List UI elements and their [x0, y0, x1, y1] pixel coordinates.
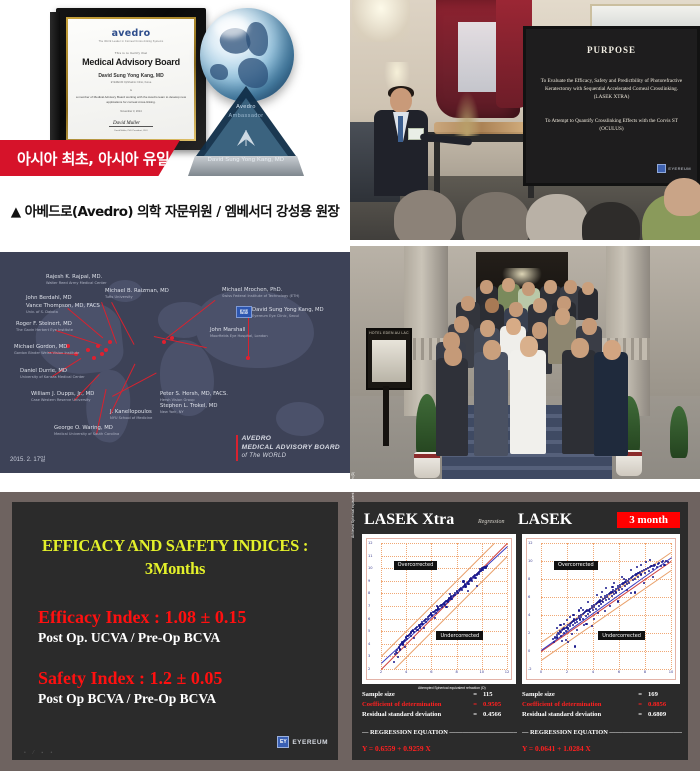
- data-point: [479, 568, 481, 570]
- gridline-horizontal: [541, 669, 671, 670]
- charts-header: LASEK Xtra Regression LASEK 3 month: [352, 508, 688, 532]
- data-point: [605, 587, 607, 589]
- data-point: [572, 614, 574, 616]
- regression-header-left: — REGRESSION EQUATION ————————————: [362, 728, 517, 738]
- data-point: [474, 577, 476, 579]
- eyereum-logo: EY EYEREUM: [277, 736, 328, 748]
- x-tick-label: 4: [592, 670, 594, 674]
- certificate: avedro The World Leader in Corneal Cross…: [68, 19, 194, 139]
- data-point: [602, 601, 604, 603]
- certificate-brand: avedro: [76, 28, 186, 39]
- efficacy-safety-slide: EFFICACY AND SAFETY INDICES : 3Months Ef…: [12, 502, 338, 760]
- data-point: [582, 609, 584, 611]
- regression-header-right: — REGRESSION EQUATION ————————————: [522, 728, 682, 738]
- data-point: [462, 580, 464, 582]
- safety-index-value: Safety Index : 1.2 ± 0.05: [38, 668, 222, 689]
- data-point: [486, 565, 488, 567]
- regression-equation-right: Y = 0.0641 + 1.0284 X: [522, 743, 682, 754]
- timepoint-badge: 3 month: [617, 512, 680, 528]
- page-root: avedro The World Leader in Corneal Cross…: [0, 0, 700, 771]
- data-point: [604, 610, 606, 612]
- regression-equation-left: Y = 0.6559 + 0.9259 X: [362, 743, 517, 754]
- data-point: [644, 572, 646, 574]
- data-point: [643, 582, 645, 584]
- audience-head-6: [664, 178, 700, 216]
- dried-plant: [454, 92, 480, 136]
- data-point: [640, 564, 642, 566]
- data-point: [399, 648, 401, 650]
- eyereum-mark-icon: EY: [277, 736, 289, 748]
- row-results-slides: EFFICACY AND SAFETY INDICES : 3Months Ef…: [0, 485, 700, 771]
- data-point: [585, 623, 587, 625]
- safety-index-formula: Post Op BCVA / Pre-Op BCVA: [38, 691, 216, 707]
- award-caption: ▲ 아베드로(Avedro) 의학 자문위원 / 엠베서더 강성용 원장: [0, 200, 350, 220]
- data-point: [569, 616, 571, 618]
- eyereum-mark-icon: [657, 164, 666, 173]
- world-map-panel: Rajesh K. Rajpal, MD.Walter Reed Army Me…: [0, 240, 350, 485]
- chart-lasek: 0246810-2024681012OvercorrectedUndercorr…: [522, 534, 680, 684]
- data-point: [553, 641, 555, 643]
- x-tick-label: 6: [618, 670, 620, 674]
- data-point: [583, 624, 585, 626]
- data-point: [559, 624, 561, 626]
- group-photo-panel: HOTEL EDEN AU LAC: [350, 240, 700, 485]
- data-point: [600, 596, 602, 598]
- chart-regression-label: Regression: [478, 519, 504, 525]
- data-point: [435, 612, 437, 614]
- annotation-overcorrected: Overcorrected: [554, 561, 598, 570]
- eyereum-logo-text: EYEREUM: [292, 739, 328, 746]
- data-point: [640, 573, 642, 575]
- group-photo: HOTEL EDEN AU LAC: [350, 246, 700, 479]
- slide-logo: EYEREUM: [657, 164, 691, 173]
- tolerance-line: [394, 556, 508, 670]
- x-tick-label: 2: [380, 670, 382, 674]
- data-point: [476, 585, 478, 587]
- projection-screen: PURPOSE To Evaluate the Efficacy, Safety…: [523, 26, 700, 186]
- certificate-body: a member of Medical Advisory Board worki…: [76, 95, 186, 104]
- x-tick-label: 2: [566, 670, 568, 674]
- data-point: [626, 589, 628, 591]
- data-point: [561, 640, 563, 642]
- data-point: [578, 609, 580, 611]
- data-point: [471, 580, 473, 582]
- chart-lasek-xtra: 2468101223456789101112OvercorrectedUnder…: [362, 534, 516, 684]
- world-map: Rajesh K. Rajpal, MD.Walter Reed Army Me…: [0, 252, 350, 473]
- data-point: [587, 601, 589, 603]
- data-point: [397, 656, 399, 658]
- certificate-is-line: is: [76, 89, 186, 92]
- gridline-horizontal: [541, 543, 671, 544]
- crystal-trophy: Avedro Ambassador David Sung Yong Kang, …: [182, 8, 310, 178]
- x-tick-label: 8: [644, 670, 646, 674]
- data-point: [464, 585, 466, 587]
- certificate-date: November 3, 2014: [76, 110, 186, 113]
- certificate-signer: David Muller, PhD President, CEO: [76, 130, 186, 132]
- data-point: [576, 629, 578, 631]
- data-point: [615, 591, 617, 593]
- data-point: [601, 591, 603, 593]
- data-point: [617, 600, 619, 602]
- data-point: [461, 589, 463, 591]
- data-point: [598, 605, 600, 607]
- avedro-emblem-icon: [234, 126, 258, 150]
- data-point: [621, 588, 623, 590]
- data-point: [574, 645, 576, 647]
- data-point: [600, 603, 602, 605]
- certificate-recipient: David Sung Yong Kang, MD: [76, 73, 186, 79]
- certificate-signature-line: David Muller: [109, 121, 153, 129]
- data-point: [597, 612, 599, 614]
- gridline-horizontal: [381, 556, 507, 557]
- data-point: [445, 606, 447, 608]
- stats-left: Sample size=115 Coefficient of determina…: [362, 690, 517, 754]
- stats-right: Sample size=169 Coefficient of determina…: [522, 690, 682, 754]
- presentation-photo: PURPOSE To Evaluate the Efficacy, Safety…: [350, 0, 700, 240]
- map-board-signature: AVEDRO MEDICAL ADVISORY BOARD of The WOR…: [236, 435, 340, 461]
- x-tick-label: 10: [669, 670, 674, 674]
- data-point: [572, 624, 574, 626]
- data-point: [563, 632, 565, 634]
- annotation-undercorrected: Undercorrected: [598, 631, 645, 640]
- data-point: [413, 631, 415, 633]
- slide-title: PURPOSE: [532, 45, 691, 55]
- trophy-line3: David Sung Yong Kang, MD: [182, 157, 310, 163]
- y-axis-label: Achieved Spherical equivalent refraction…: [351, 472, 355, 538]
- data-point: [591, 625, 593, 627]
- gridline-vertical: [507, 543, 508, 669]
- data-point: [630, 569, 632, 571]
- data-point: [609, 605, 611, 607]
- buffet-items: [434, 122, 530, 134]
- gridline-horizontal: [381, 656, 507, 657]
- slide-controls[interactable]: • ⁄ ▪ •: [24, 750, 55, 756]
- data-point: [482, 569, 484, 571]
- gridline-horizontal: [541, 579, 671, 580]
- gridline-horizontal: [381, 669, 507, 670]
- data-point: [419, 626, 421, 628]
- row-award-and-presentation: avedro The World Leader in Corneal Cross…: [0, 0, 700, 240]
- audience-head-1: [394, 190, 456, 240]
- certificate-signature: David Muller: [113, 121, 140, 126]
- gridline-horizontal: [381, 543, 507, 544]
- data-point: [585, 615, 587, 617]
- award-panel: avedro The World Leader in Corneal Cross…: [0, 0, 350, 240]
- certificate-brand-tagline: The World Leader in Corneal Cross-linkin…: [76, 40, 186, 43]
- efficacy-index-formula: Post Op. UCVA / Pre-Op BCVA: [38, 630, 220, 646]
- data-point: [484, 566, 486, 568]
- certificate-title: Medical Advisory Board: [76, 57, 186, 67]
- data-point: [413, 637, 415, 639]
- data-point: [634, 591, 636, 593]
- data-point: [618, 589, 620, 591]
- audience-head-3: [526, 194, 588, 240]
- x-tick-label: 12: [505, 670, 510, 674]
- data-point: [423, 627, 425, 629]
- x-tick-label: 8: [455, 670, 457, 674]
- trophy-line2: Ambassador: [182, 113, 310, 119]
- efficacy-slide-title: EFFICACY AND SAFETY INDICES : 3Months: [12, 534, 338, 580]
- gridline-horizontal: [541, 651, 671, 652]
- data-point: [450, 598, 452, 600]
- data-point: [593, 618, 595, 620]
- certificate-org: EYEREUM Ophthalmic Clinic, Korea: [76, 81, 186, 84]
- chandelier-left: [352, 0, 410, 42]
- data-point: [393, 661, 395, 663]
- data-point: [579, 618, 581, 620]
- data-point: [636, 566, 638, 568]
- slide-paragraph-1: To Evaluate the Efficacy, Safety and Pre…: [532, 77, 691, 101]
- data-point: [467, 583, 469, 585]
- data-point: [569, 625, 571, 627]
- x-tick-label: 4: [405, 670, 407, 674]
- annotation-undercorrected: Undercorrected: [436, 631, 483, 640]
- data-point: [592, 609, 594, 611]
- x-tick-label: 10: [480, 670, 485, 674]
- data-point: [630, 592, 632, 594]
- hotel-sign-case: HOTEL EDEN AU LAC: [366, 328, 412, 390]
- asia-first-banner: 아시아 최초, 아시아 유일: [0, 140, 180, 176]
- gridline-horizontal: [381, 581, 507, 582]
- data-point: [652, 576, 654, 578]
- eyereum-logo-icon: EYEREUM: [236, 306, 252, 318]
- scatter-plot-area-left: 2468101223456789101112OvercorrectedUnder…: [366, 538, 512, 680]
- data-point: [431, 614, 433, 616]
- x-tick-label: 0: [540, 670, 542, 674]
- chart-right-title: LASEK: [518, 511, 572, 529]
- slide-paragraph-2: To Attempt to Quantify Crosslinking Effe…: [532, 117, 691, 133]
- efficacy-index-value: Efficacy Index : 1.08 ± 0.15: [38, 607, 246, 628]
- data-point: [396, 649, 398, 651]
- regression-charts-slide: LASEK Xtra Regression LASEK 3 month 2468…: [352, 502, 688, 760]
- data-point: [613, 582, 615, 584]
- data-point: [478, 573, 480, 575]
- row-map-and-group: Rajesh K. Rajpal, MD.Walter Reed Army Me…: [0, 240, 700, 485]
- scatter-plot-area-right: 0246810-2024681012OvercorrectedUndercorr…: [526, 538, 676, 680]
- data-point: [596, 594, 598, 596]
- data-point: [605, 599, 607, 601]
- x-tick-label: 6: [430, 670, 432, 674]
- data-point: [556, 627, 558, 629]
- data-point: [425, 621, 427, 623]
- data-point: [628, 582, 630, 584]
- data-point: [637, 576, 639, 578]
- data-point: [611, 586, 613, 588]
- data-point: [410, 635, 412, 637]
- data-point: [663, 564, 665, 566]
- data-point: [648, 570, 650, 572]
- data-point: [404, 646, 406, 648]
- data-point: [441, 606, 443, 608]
- asia-first-banner-text: 아시아 최초, 아시아 유일: [17, 148, 169, 169]
- data-point: [449, 593, 451, 595]
- data-point: [571, 633, 573, 635]
- chart-left-title: LASEK Xtra: [364, 511, 454, 529]
- slides-frame: EFFICACY AND SAFETY INDICES : 3Months Ef…: [0, 492, 700, 771]
- data-point: [559, 631, 561, 633]
- certificate-pre-line: This is to Certify that: [76, 51, 186, 55]
- map-date: 2015. 2. 17일: [10, 454, 46, 463]
- audience-head-2: [462, 192, 530, 240]
- trophy-base: Avedro Ambassador David Sung Yong Kang, …: [182, 86, 310, 178]
- trophy-line1: Avedro: [182, 104, 310, 110]
- data-point: [624, 585, 626, 587]
- annotation-overcorrected: Overcorrected: [394, 561, 438, 570]
- data-point: [467, 590, 469, 592]
- data-point: [416, 629, 418, 631]
- speaker: [372, 88, 430, 198]
- slide-logo-text: EYEREUM: [668, 166, 691, 171]
